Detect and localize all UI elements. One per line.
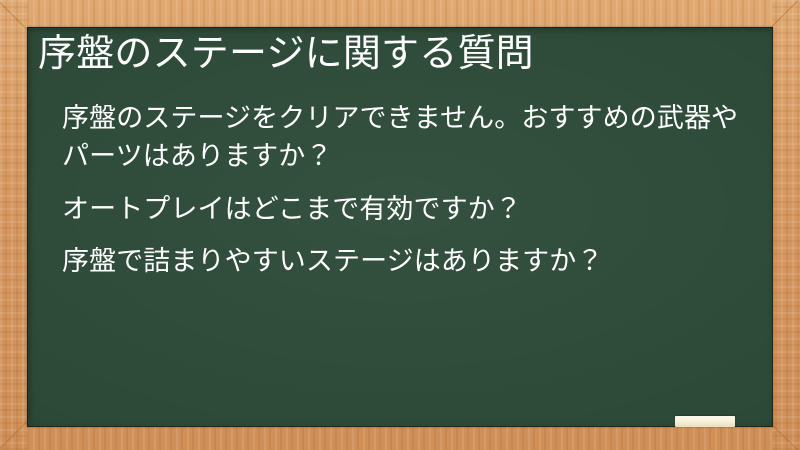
question-item: オートプレイはどこまで有効ですか？ xyxy=(62,190,751,228)
chalkboard-content: 序盤のステージに関する質問 序盤のステージをクリアできません。おすすめの武器やパ… xyxy=(27,27,773,427)
chalk-stick xyxy=(675,416,735,427)
chalkboard-slide: 序盤のステージに関する質問 序盤のステージをクリアできません。おすすめの武器やパ… xyxy=(0,0,800,450)
slide-title: 序盤のステージに関する質問 xyxy=(38,31,761,77)
question-list: 序盤のステージをクリアできません。おすすめの武器やパーツはありますか？ オートプ… xyxy=(62,99,751,280)
frame-rail-right xyxy=(772,0,800,450)
frame-rail-left xyxy=(0,0,28,450)
chalkboard-surface: 序盤のステージに関する質問 序盤のステージをクリアできません。おすすめの武器やパ… xyxy=(27,27,773,427)
question-item: 序盤のステージをクリアできません。おすすめの武器やパーツはありますか？ xyxy=(62,99,751,176)
question-item: 序盤で詰まりやすいステージはありますか？ xyxy=(62,242,751,280)
